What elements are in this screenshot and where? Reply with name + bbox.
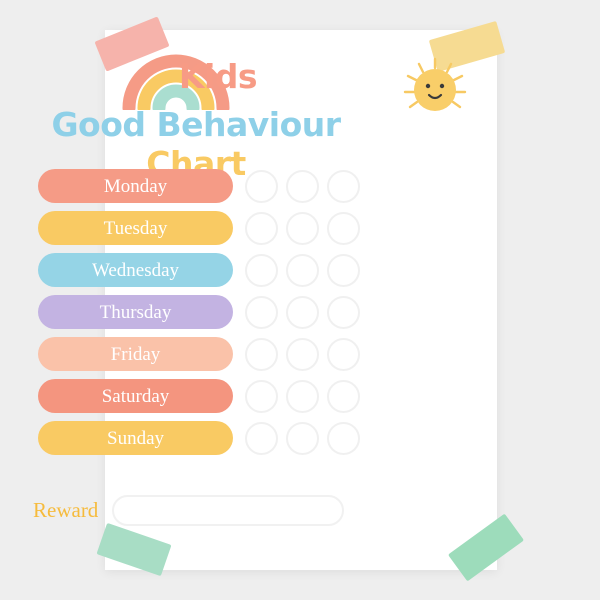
sticker-circle[interactable] — [327, 422, 360, 455]
sun-icon — [398, 54, 472, 124]
title-line-kids: Kids — [0, 57, 392, 96]
sticker-slots — [245, 338, 368, 371]
sticker-circle[interactable] — [286, 212, 319, 245]
sticker-circle[interactable] — [286, 170, 319, 203]
day-pill-sunday[interactable]: Sunday — [38, 421, 233, 455]
day-label: Thursday — [100, 303, 172, 322]
sticker-circle[interactable] — [327, 296, 360, 329]
table-row: Saturday — [0, 378, 392, 414]
day-label: Monday — [104, 177, 167, 196]
day-rows: MondayTuesdayWednesdayThursdayFridaySatu… — [0, 168, 392, 462]
day-pill-monday[interactable]: Monday — [38, 169, 233, 203]
sticker-circle[interactable] — [327, 380, 360, 413]
sticker-circle[interactable] — [245, 170, 278, 203]
day-label: Friday — [111, 345, 161, 364]
table-row: Wednesday — [0, 252, 392, 288]
sticker-circle[interactable] — [286, 254, 319, 287]
day-pill-saturday[interactable]: Saturday — [38, 379, 233, 413]
reward-row: Reward — [0, 495, 392, 526]
sticker-circle[interactable] — [327, 170, 360, 203]
sticker-slots — [245, 422, 368, 455]
day-label: Saturday — [102, 387, 170, 406]
sticker-circle[interactable] — [286, 338, 319, 371]
printable-chart-scene: Kids Good Behaviour Chart MondayTuesdayW… — [0, 0, 600, 600]
sticker-circle[interactable] — [327, 338, 360, 371]
sticker-slots — [245, 212, 368, 245]
day-label: Wednesday — [92, 261, 179, 280]
sticker-circle[interactable] — [327, 212, 360, 245]
table-row: Tuesday — [0, 210, 392, 246]
sticker-circle[interactable] — [245, 296, 278, 329]
table-row: Thursday — [0, 294, 392, 330]
day-pill-tuesday[interactable]: Tuesday — [38, 211, 233, 245]
sticker-circle[interactable] — [286, 422, 319, 455]
sticker-circle[interactable] — [286, 380, 319, 413]
sticker-circle[interactable] — [245, 212, 278, 245]
title-line-good-behaviour: Good Behaviour — [0, 105, 392, 144]
table-row: Monday — [0, 168, 392, 204]
sticker-circle[interactable] — [286, 296, 319, 329]
sticker-slots — [245, 254, 368, 287]
sticker-circle[interactable] — [245, 338, 278, 371]
day-pill-wednesday[interactable]: Wednesday — [38, 253, 233, 287]
sticker-slots — [245, 380, 368, 413]
sticker-circle[interactable] — [327, 254, 360, 287]
day-pill-friday[interactable]: Friday — [38, 337, 233, 371]
sticker-circle[interactable] — [245, 380, 278, 413]
table-row: Sunday — [0, 420, 392, 456]
sticker-slots — [245, 170, 368, 203]
day-pill-thursday[interactable]: Thursday — [38, 295, 233, 329]
sticker-circle[interactable] — [245, 254, 278, 287]
day-label: Sunday — [107, 429, 164, 448]
reward-input[interactable] — [112, 495, 344, 526]
reward-label: Reward — [33, 498, 98, 523]
day-label: Tuesday — [104, 219, 168, 238]
table-row: Friday — [0, 336, 392, 372]
sticker-circle[interactable] — [245, 422, 278, 455]
sticker-slots — [245, 296, 368, 329]
